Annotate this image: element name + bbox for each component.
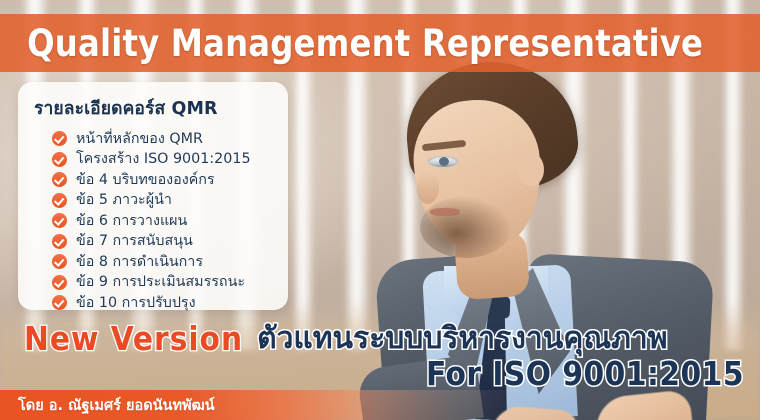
check-circle-icon: [52, 295, 67, 310]
list-item: ข้อ 7 การสนับสนุน: [52, 232, 274, 252]
list-item-label: หน้าที่หลักของ QMR: [76, 128, 203, 150]
course-promo-banner: Quality Management Representative รายละเ…: [0, 0, 760, 420]
list-item-label: ข้อ 7 การสนับสนุน: [76, 230, 193, 252]
check-circle-icon: [52, 152, 67, 167]
list-item-label: ข้อ 8 การดำเนินการ: [76, 251, 203, 273]
new-version-label: New Version: [0, 319, 243, 358]
lower-headline-block: New Version ตัวแทนระบบบริหารงานคุณภาพ Fo…: [0, 318, 760, 390]
list-item: หน้าที่หลักของ QMR: [52, 129, 274, 149]
instructor-byline: โดย อ. ณัฐเมศร์ ยอดนันทพัฒน์: [0, 394, 215, 417]
course-detail-card: รายละเอียดคอร์ส QMR หน้าที่หลักของ QMR โ…: [18, 82, 288, 310]
title-band: Quality Management Representative: [0, 14, 760, 72]
list-item: โครงสร้าง ISO 9001:2015: [52, 150, 274, 170]
list-item: ข้อ 4 บริบทขององค์กร: [52, 170, 274, 190]
check-circle-icon: [52, 234, 67, 249]
list-item: ข้อ 5 ภาวะผู้นำ: [52, 191, 274, 211]
list-item: ข้อ 6 การวางแผน: [52, 211, 274, 231]
headline-line-1: New Version ตัวแทนระบบบริหารงานคุณภาพ: [0, 318, 760, 358]
list-item-label: ข้อ 4 บริบทขององค์กร: [76, 169, 215, 191]
check-circle-icon: [52, 275, 67, 290]
course-topic-list: หน้าที่หลักของ QMR โครงสร้าง ISO 9001:20…: [34, 129, 274, 313]
list-item-label: โครงสร้าง ISO 9001:2015: [76, 148, 251, 170]
list-item-label: ข้อ 9 การประเมินสมรรถนะ: [76, 271, 245, 293]
check-circle-icon: [52, 193, 67, 208]
list-item: ข้อ 9 การประเมินสมรรถนะ: [52, 273, 274, 293]
list-item: ข้อ 8 การดำเนินการ: [52, 252, 274, 272]
for-iso-label: For ISO 9001:2015: [426, 354, 744, 393]
list-item-label: ข้อ 6 การวางแผน: [76, 210, 187, 232]
check-circle-icon: [52, 213, 67, 228]
list-item-label: ข้อ 10 การปรับปรุง: [76, 292, 196, 314]
list-item-label: ข้อ 5 ภาวะผู้นำ: [76, 189, 172, 211]
card-heading: รายละเอียดคอร์ส QMR: [34, 94, 274, 122]
list-item: ข้อ 10 การปรับปรุง: [52, 293, 274, 313]
byline-bar: โดย อ. ณัฐเมศร์ ยอดนันทพัฒน์: [0, 390, 760, 420]
banner-title: Quality Management Representative: [0, 22, 703, 65]
check-circle-icon: [52, 254, 67, 269]
check-circle-icon: [52, 131, 67, 146]
check-circle-icon: [52, 172, 67, 187]
